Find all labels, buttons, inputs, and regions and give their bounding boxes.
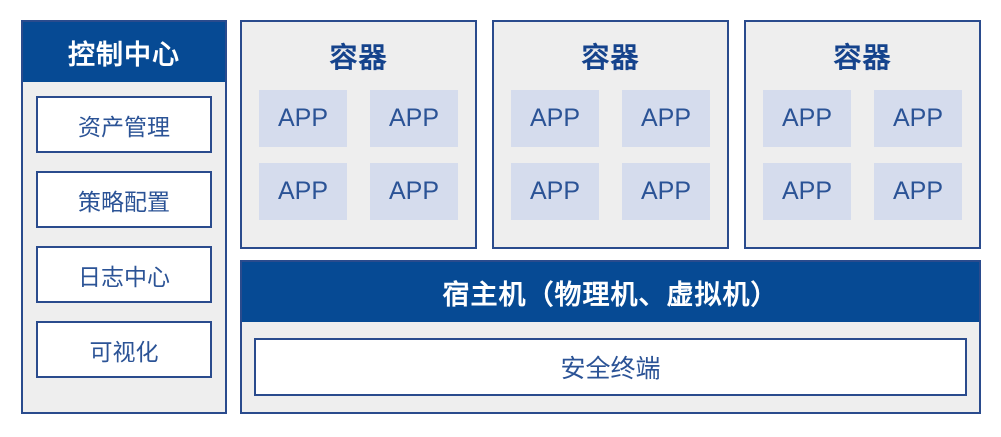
app-box[interactable]: APP (763, 90, 851, 147)
right-region: 容器 APP APP APP APP 容器 APP APP APP APP (240, 20, 981, 414)
control-center-panel: 控制中心 资产管理 策略配置 日志中心 可视化 (21, 20, 227, 414)
app-box[interactable]: APP (622, 163, 710, 220)
app-box[interactable]: APP (622, 90, 710, 147)
secure-terminal-box[interactable]: 安全终端 (254, 338, 967, 396)
app-box[interactable]: APP (511, 163, 599, 220)
control-center-item-log-center[interactable]: 日志中心 (36, 246, 212, 303)
app-box[interactable]: APP (874, 90, 962, 147)
app-box[interactable]: APP (370, 163, 458, 220)
app-box[interactable]: APP (874, 163, 962, 220)
container-title: 容器 (581, 36, 639, 76)
container-panel-1: 容器 APP APP APP APP (240, 20, 477, 249)
app-box[interactable]: APP (259, 163, 347, 220)
control-center-item-asset-management[interactable]: 资产管理 (36, 96, 212, 153)
container-title: 容器 (329, 36, 387, 76)
app-box[interactable]: APP (370, 90, 458, 147)
app-box[interactable]: APP (763, 163, 851, 220)
architecture-diagram: 控制中心 资产管理 策略配置 日志中心 可视化 容器 APP APP APP A… (0, 0, 1001, 437)
app-grid: APP APP APP APP (259, 90, 458, 220)
container-title: 容器 (833, 36, 891, 76)
container-panel-2: 容器 APP APP APP APP (492, 20, 729, 249)
control-center-item-visualization[interactable]: 可视化 (36, 321, 212, 378)
app-box[interactable]: APP (511, 90, 599, 147)
containers-row: 容器 APP APP APP APP 容器 APP APP APP APP (240, 20, 981, 249)
app-box[interactable]: APP (259, 90, 347, 147)
control-center-title: 控制中心 (23, 22, 225, 82)
host-machine-panel: 宿主机（物理机、虚拟机） 安全终端 (240, 260, 981, 414)
host-machine-body: 安全终端 (242, 322, 979, 396)
control-center-item-list: 资产管理 策略配置 日志中心 可视化 (23, 82, 225, 378)
container-panel-3: 容器 APP APP APP APP (744, 20, 981, 249)
app-grid: APP APP APP APP (763, 90, 962, 220)
app-grid: APP APP APP APP (511, 90, 710, 220)
control-center-item-policy-config[interactable]: 策略配置 (36, 171, 212, 228)
host-machine-title: 宿主机（物理机、虚拟机） (242, 262, 979, 322)
